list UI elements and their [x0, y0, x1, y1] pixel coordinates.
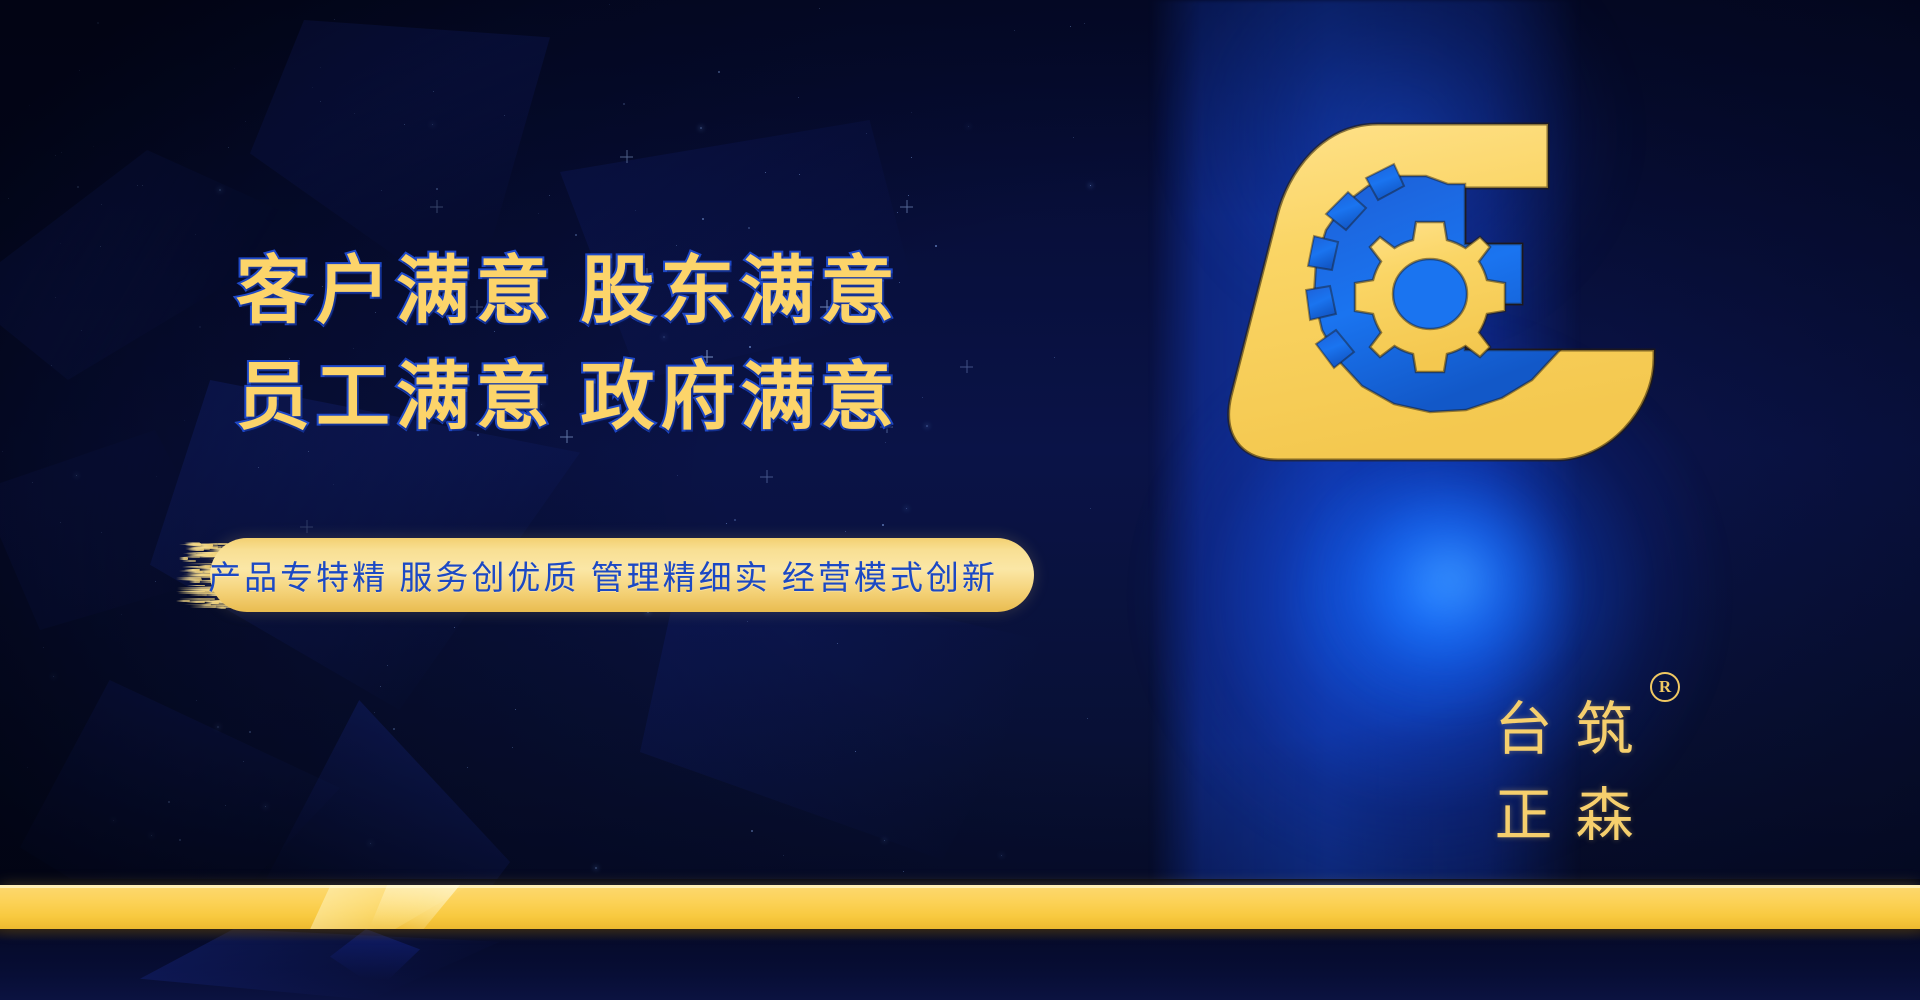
company-wordmark: 台 筑 正 森 R [1484, 688, 1674, 858]
wordmark-char-3: 正 [1484, 774, 1563, 858]
banner-canvas: 客户满意 股东满意 员工满意 政府满意 产品专特精 服务创优质 管理精细实 经营… [0, 0, 1920, 1000]
headline-slogan: 客户满意 股东满意 员工满意 政府满意 [236, 244, 1056, 446]
wordmark-char-4: 森 [1565, 774, 1644, 858]
wordmark-characters: 台 筑 正 森 [1484, 688, 1644, 858]
wordmark-char-1: 台 [1484, 688, 1563, 772]
gear-swoosh-logo-icon [1130, 98, 1690, 498]
wordmark-char-2: 筑 [1565, 688, 1644, 772]
headline-line-2: 员工满意 政府满意 [236, 350, 1056, 446]
gold-bar-underglow [0, 929, 1920, 941]
headline-line-1: 客户满意 股东满意 [236, 244, 1056, 340]
registered-trademark-icon: R [1650, 672, 1680, 702]
footer-gold-bar [0, 885, 1920, 929]
slogan-pill: 产品专特精 服务创优质 管理精细实 经营模式创新 [172, 538, 1034, 612]
gold-bar-highlight [0, 885, 1920, 888]
pill-text: 产品专特精 服务创优质 管理精细实 经营模式创新 [172, 538, 1034, 612]
